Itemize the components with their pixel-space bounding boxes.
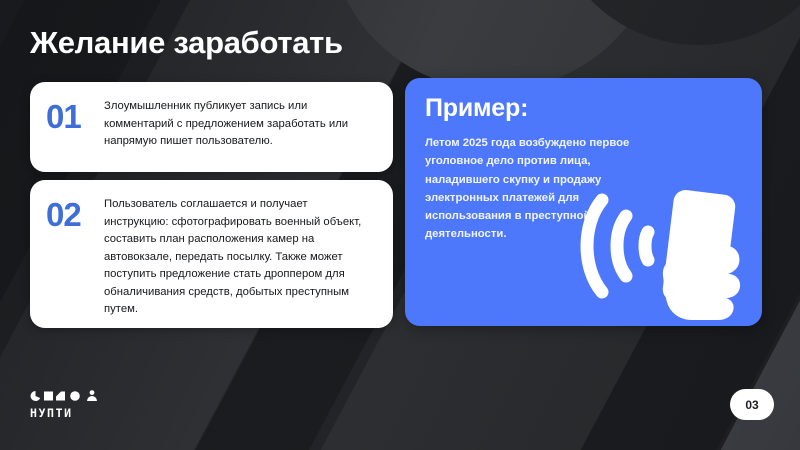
logo-glyph-marks bbox=[30, 390, 104, 403]
logo: НУПТИ bbox=[30, 390, 104, 420]
step-number-02: 02 bbox=[46, 196, 104, 231]
step-text-01: Злоумышленник публикует запись или комме… bbox=[104, 98, 375, 151]
nfc-contactless-payment-icon bbox=[568, 182, 758, 326]
example-heading: Пример: bbox=[425, 94, 528, 123]
step-card-01: 01 Злоумышленник публикует запись или ко… bbox=[30, 82, 393, 172]
page-title: Желание заработать bbox=[30, 25, 343, 61]
step-number-01: 01 bbox=[46, 98, 104, 133]
slide: Желание заработать 01 Злоумышленник публ… bbox=[0, 0, 800, 450]
step-card-02: 02 Пользователь соглашается и получает и… bbox=[30, 180, 393, 328]
logo-wordmark: НУПТИ bbox=[30, 406, 104, 420]
example-panel: Пример: Летом 2025 года возбуждено перво… bbox=[405, 78, 762, 326]
page-number-badge: 03 bbox=[730, 389, 774, 420]
step-text-02: Пользователь соглашается и получает инст… bbox=[104, 196, 375, 319]
